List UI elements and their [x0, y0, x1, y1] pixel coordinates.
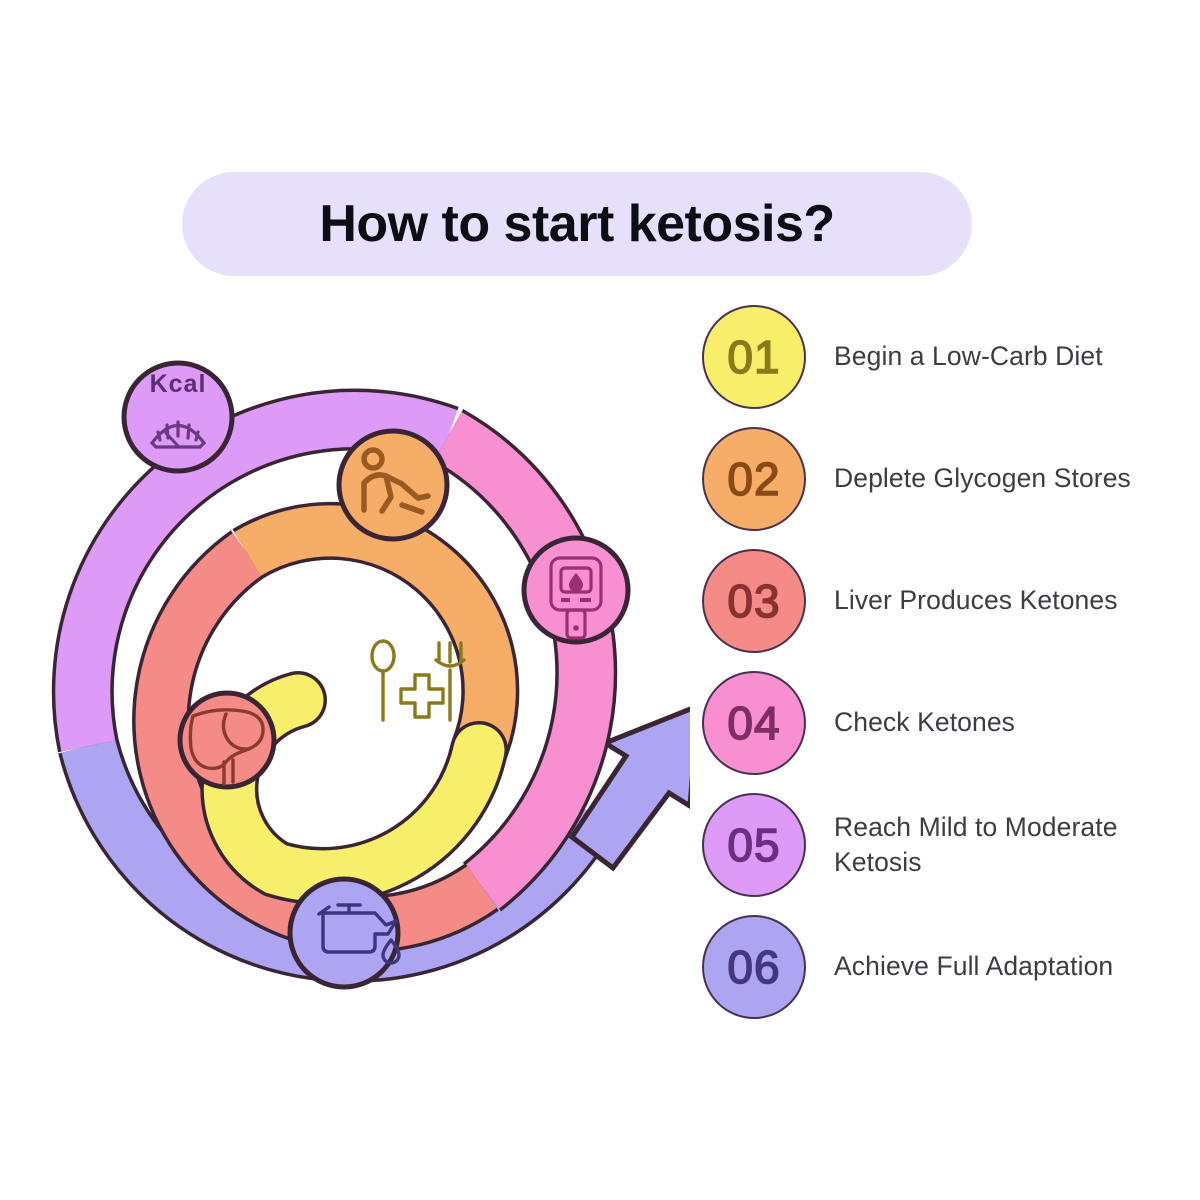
- step-label-04: Check Ketones: [834, 705, 1015, 740]
- step-number-06: 06: [727, 944, 780, 990]
- utensils-medical-icon: [372, 641, 464, 720]
- step-badge-05[interactable]: 05: [702, 793, 806, 897]
- step-number-03: 03: [727, 578, 780, 624]
- kcal-gauge-icon: Kcal: [124, 363, 232, 471]
- ketone-meter-icon: [524, 538, 628, 642]
- step-badge-06[interactable]: 06: [702, 915, 806, 1019]
- title-banner: How to start ketosis?: [182, 172, 972, 276]
- runner-icon: [339, 431, 447, 539]
- liver-icon: [180, 693, 274, 787]
- legend-item-01[interactable]: 01 Begin a Low-Carb Diet: [702, 296, 1172, 418]
- step-badge-03[interactable]: 03: [702, 549, 806, 653]
- step-badge-04[interactable]: 04: [702, 671, 806, 775]
- step-number-04: 04: [727, 700, 780, 746]
- steps-legend: 01 Begin a Low-Carb Diet 02 Deplete Glyc…: [702, 296, 1172, 1028]
- page-title: How to start ketosis?: [319, 198, 834, 250]
- step-label-01: Begin a Low-Carb Diet: [834, 339, 1103, 374]
- kcal-label: Kcal: [150, 370, 207, 398]
- step-label-05: Reach Mild to Moderate Ketosis: [834, 810, 1164, 880]
- step-number-05: 05: [727, 822, 780, 868]
- step-number-02: 02: [727, 456, 780, 502]
- step-number-01: 01: [727, 334, 780, 380]
- legend-item-03[interactable]: 03 Liver Produces Ketones: [702, 540, 1172, 662]
- legend-item-04[interactable]: 04 Check Ketones: [702, 662, 1172, 784]
- oil-can-drop-icon: [290, 879, 399, 987]
- step-label-06: Achieve Full Adaptation: [834, 949, 1113, 984]
- step-badge-02[interactable]: 02: [702, 427, 806, 531]
- legend-item-02[interactable]: 02 Deplete Glycogen Stores: [702, 418, 1172, 540]
- step-label-02: Deplete Glycogen Stores: [834, 461, 1131, 496]
- spiral-diagram: Kcal: [30, 300, 690, 1020]
- step-badge-01[interactable]: 01: [702, 305, 806, 409]
- legend-item-05[interactable]: 05 Reach Mild to Moderate Ketosis: [702, 784, 1172, 906]
- step-label-03: Liver Produces Ketones: [834, 583, 1118, 618]
- legend-item-06[interactable]: 06 Achieve Full Adaptation: [702, 906, 1172, 1028]
